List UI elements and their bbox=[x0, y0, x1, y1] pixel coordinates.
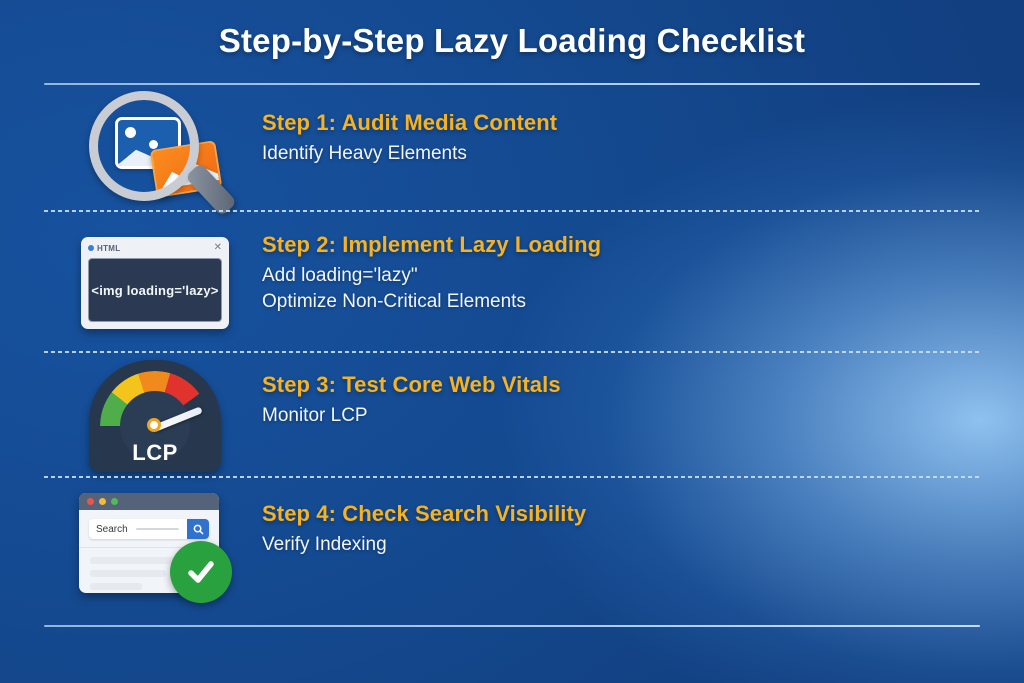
magnifier-ring bbox=[89, 91, 199, 201]
step-row-2: HTML ✕ <img loading='lazy> Step 2: Imple… bbox=[0, 218, 1024, 348]
page-title: Step-by-Step Lazy Loading Checklist bbox=[0, 22, 1024, 60]
step-4-text-cell: Step 4: Check Search Visibility Verify I… bbox=[262, 501, 984, 560]
step-2-icon-cell: HTML ✕ <img loading='lazy> bbox=[60, 218, 250, 348]
bottom-divider bbox=[44, 625, 980, 627]
step-4-icon-cell: Search bbox=[60, 487, 250, 607]
content-line bbox=[90, 583, 142, 590]
search-input-label: Search bbox=[96, 524, 128, 535]
html-code-window-icon: HTML ✕ <img loading='lazy> bbox=[81, 237, 229, 329]
divider-3 bbox=[44, 476, 980, 478]
infographic-canvas: Step-by-Step Lazy Loading Checklist Step… bbox=[0, 0, 1024, 683]
gauge-pivot bbox=[147, 418, 161, 432]
content-line bbox=[90, 570, 166, 577]
search-icon bbox=[193, 524, 204, 535]
step-2-line-1: Add loading='lazy" bbox=[262, 265, 984, 287]
step-4-line-1: Verify Indexing bbox=[262, 534, 984, 556]
search-input[interactable]: Search bbox=[89, 519, 209, 539]
step-1-icon-cell bbox=[60, 96, 250, 206]
magnifier-image-icon bbox=[75, 89, 235, 214]
success-check-badge bbox=[170, 541, 232, 603]
search-placeholder-line bbox=[136, 528, 179, 530]
divider-1 bbox=[44, 210, 980, 212]
search-button[interactable] bbox=[187, 519, 209, 539]
step-1-line-1: Identify Heavy Elements bbox=[262, 143, 984, 165]
step-3-text-cell: Step 3: Test Core Web Vitals Monitor LCP bbox=[262, 372, 984, 431]
window-dot-icon bbox=[88, 245, 94, 251]
step-2-text-cell: Step 2: Implement Lazy Loading Add loadi… bbox=[262, 232, 984, 317]
checkmark-icon bbox=[184, 555, 218, 589]
lcp-gauge-icon: LCP bbox=[89, 360, 221, 472]
step-1-heading: Step 1: Audit Media Content bbox=[262, 110, 984, 136]
browser-titlebar bbox=[79, 493, 219, 510]
gauge-label: LCP bbox=[89, 440, 221, 466]
step-row-3: LCP Step 3: Test Core Web Vitals Monitor… bbox=[0, 358, 1024, 473]
maximize-dot-icon[interactable] bbox=[111, 498, 118, 505]
step-4-heading: Step 4: Check Search Visibility bbox=[262, 501, 984, 527]
code-window-title: HTML bbox=[97, 244, 120, 253]
browser-search-check-icon: Search bbox=[79, 493, 231, 601]
title-divider bbox=[44, 83, 980, 85]
code-area: <img loading='lazy> bbox=[88, 258, 222, 322]
step-2-heading: Step 2: Implement Lazy Loading bbox=[262, 232, 984, 258]
divider-2 bbox=[44, 351, 980, 353]
close-dot-icon[interactable] bbox=[87, 498, 94, 505]
code-window-titlebar: HTML ✕ bbox=[84, 240, 226, 256]
close-icon[interactable]: ✕ bbox=[214, 243, 222, 253]
step-3-line-1: Monitor LCP bbox=[262, 405, 984, 427]
step-1-text-cell: Step 1: Audit Media Content Identify Hea… bbox=[262, 110, 984, 169]
code-text: <img loading='lazy> bbox=[91, 283, 218, 298]
step-3-heading: Step 3: Test Core Web Vitals bbox=[262, 372, 984, 398]
step-row-4: Search bbox=[0, 487, 1024, 607]
step-2-line-2: Optimize Non-Critical Elements bbox=[262, 291, 984, 313]
step-3-icon-cell: LCP bbox=[60, 358, 250, 473]
minimize-dot-icon[interactable] bbox=[99, 498, 106, 505]
step-row-1: Step 1: Audit Media Content Identify Hea… bbox=[0, 96, 1024, 206]
